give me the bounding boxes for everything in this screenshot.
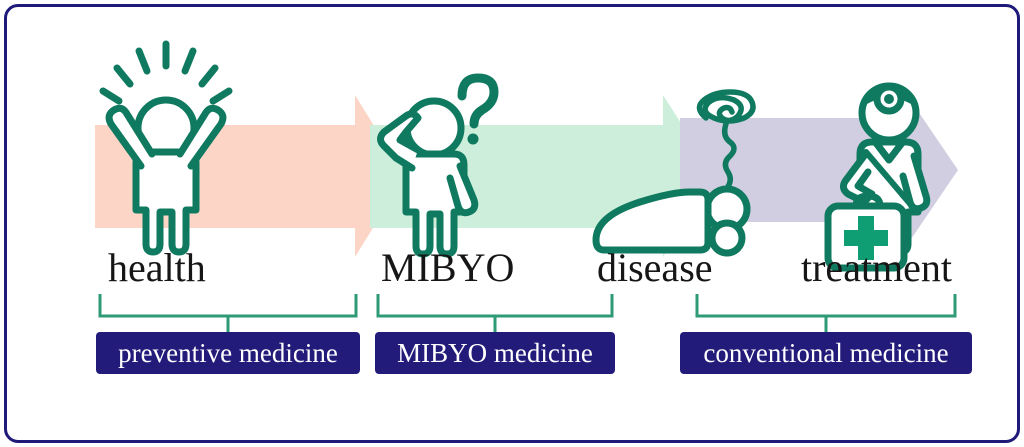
- chip-preventive-medicine[interactable]: preventive medicine: [96, 332, 360, 374]
- diagram-canvas: health MIBYO disease treatment preventiv…: [0, 0, 1024, 447]
- bracket-conventional-medicine: [697, 294, 955, 332]
- bracket-preventive-medicine: [100, 294, 356, 332]
- bracket-layer: [0, 0, 1024, 447]
- bracket-mibyo-medicine: [378, 294, 612, 332]
- chip-conventional-medicine[interactable]: conventional medicine: [680, 332, 972, 374]
- chip-mibyo-medicine[interactable]: MIBYO medicine: [375, 332, 615, 374]
